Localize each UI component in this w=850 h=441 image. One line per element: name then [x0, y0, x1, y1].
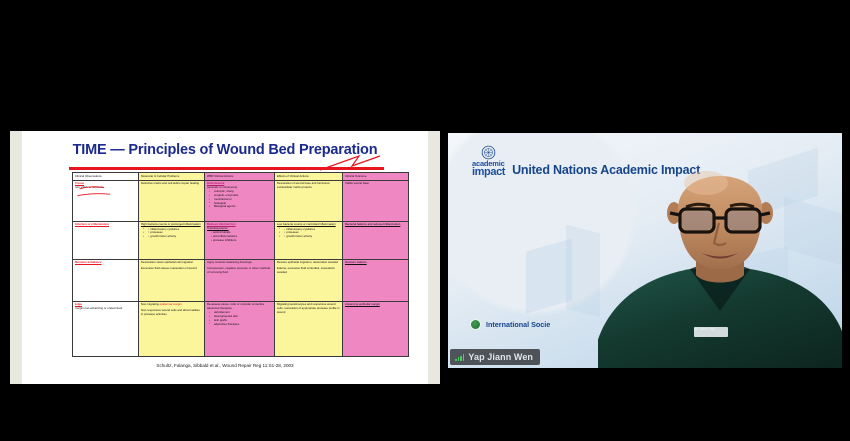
slide-citation: Schultz, Falanga, Sibbald et al., Wound …	[22, 363, 428, 368]
red-underline-annotation	[79, 185, 105, 190]
cell-observation-i: Infection or inflammation	[73, 221, 139, 259]
action-head: Apply moisture balancing dressings	[207, 260, 252, 264]
shared-screen-panel[interactable]: TIME — Principles of Wound Bed Preparati…	[10, 131, 440, 384]
effect-text: Low bacteria counts or controlled inflam…	[277, 222, 336, 226]
effect-text: Edema, excessive fluid controlled, macer…	[277, 266, 335, 274]
cell-problems-e: Non-migrating epidermal margin Non-respo…	[139, 301, 205, 356]
un-emblem-group: academic impact	[472, 145, 505, 178]
lens-right	[728, 211, 758, 230]
problem-emphasis: epidermal margin	[160, 302, 182, 306]
outcome-text: Moisture balance	[345, 260, 367, 264]
background-shape	[566, 225, 600, 317]
observation-detail-e: margin non-advancing or undermined	[75, 306, 122, 310]
action-item-list: debridement bioengineered skin skin graf…	[211, 311, 272, 326]
participant-figure	[598, 151, 842, 368]
problem-text: Non-migrating epidermal margin	[141, 302, 182, 306]
signal-strength-icon	[455, 353, 464, 361]
slide-content: TIME — Principles of Wound Bed Preparati…	[22, 131, 428, 384]
table-row: Moisture imbalance Desiccation slows epi…	[73, 259, 409, 301]
problem-text: Defective matrix and cell debris impair …	[141, 181, 199, 185]
society-label: International Socie	[486, 320, 550, 329]
meeting-screen: TIME — Principles of Wound Bed Preparati…	[0, 0, 850, 441]
cell-effects-t: Restoration of wound base and functional…	[275, 180, 343, 221]
cell-effects-m: Restore epithelial migration, desiccatio…	[275, 259, 343, 301]
society-badge-icon	[470, 319, 481, 330]
effect-text: Restoration of wound base and functional…	[277, 181, 329, 189]
effect-item-list: ↓ inflammatory cytokines ↓ proteases ↑ g…	[281, 228, 340, 239]
table-header-row: Clinical Observations Molecular & Cellul…	[73, 173, 409, 181]
society-logo-group: International Socie	[470, 319, 550, 330]
cell-problems-m: Desiccation slows epithelial cell migrat…	[139, 259, 205, 301]
header-effects-of-clinical-actions: Effects of Clinical Actions	[275, 173, 343, 181]
cell-actions-i: Remove infected foci Topical/systemic: a…	[205, 221, 275, 259]
action-head: Re-assess cause, refer or consider corre…	[207, 302, 264, 310]
problem-item-list: ↑ inflammatory cytokines ↑ proteases ↓ g…	[145, 228, 202, 239]
cell-outcome-t: Viable wound base	[343, 180, 409, 221]
problem-text: High bacteria counts or prolonged inflam…	[141, 222, 201, 226]
problem-text: Desiccation slows epithelial cell migrat…	[141, 260, 193, 264]
cell-outcome-m: Moisture balance	[343, 259, 409, 301]
header-clinical-observations: Clinical Observations	[73, 173, 139, 181]
action-item-list: antimicrobials anti-inflammatories prote…	[213, 231, 272, 242]
list-item: ↓ growth factor activity	[145, 235, 202, 239]
lens-left	[682, 211, 712, 230]
list-item: adjunctive therapies	[211, 323, 272, 327]
cell-observation-m: Moisture imbalance	[73, 259, 139, 301]
action-item-list: Autolytic, sharp, surgical, enzymatic, m…	[211, 190, 272, 209]
outcome-text: Viable wound base	[345, 181, 369, 185]
academic-impact-wordmark: academic impact	[472, 160, 505, 178]
title-underline-rule	[69, 167, 384, 170]
action-sub: Compression, negative pressure or other …	[207, 266, 270, 274]
list-item: protease inhibitors	[213, 239, 272, 243]
cell-observation-e: Edge margin non-advancing or undermined	[73, 301, 139, 356]
participant-name: Yap Jiann Wen	[468, 352, 533, 362]
cell-problems-i: High bacteria counts or prolonged inflam…	[139, 221, 205, 259]
list-item: ↑ growth factor activity	[281, 235, 340, 239]
observation-label-i: Infection or inflammation	[75, 222, 109, 226]
participant-video-tile[interactable]: academic impact United Nations Academic …	[448, 133, 842, 368]
effect-text: Migrating keratinocytes and responsive w…	[277, 302, 339, 314]
cell-effects-e: Migrating keratinocytes and responsive w…	[275, 301, 343, 356]
cell-actions-t: Debridement (episodic or continuous) Aut…	[205, 180, 275, 221]
table-row: Tissue non-viable or deficient Defective…	[73, 180, 409, 221]
problem-text: Non-responsive wound cells and abnormali…	[141, 308, 200, 316]
observation-label-m: Moisture imbalance	[75, 260, 102, 264]
cell-actions-e: Re-assess cause, refer or consider corre…	[205, 301, 275, 356]
problem-text: Excessive fluid causes maceration of wou…	[141, 266, 197, 270]
badge-text: Dr. Jiann Yap	[694, 327, 715, 331]
list-item: Biological agents	[211, 205, 272, 209]
participant-name-tag[interactable]: Yap Jiann Wen	[450, 349, 540, 365]
time-framework-table: Clinical Observations Molecular & Cellul…	[72, 172, 409, 357]
cell-actions-m: Apply moisture balancing dressings Compr…	[205, 259, 275, 301]
outcome-text: Bacterial balance and reduced inflammati…	[345, 222, 400, 226]
un-emblem-icon	[481, 145, 496, 160]
wordmark-line-2: impact	[472, 166, 505, 178]
scalp-highlight	[684, 171, 728, 195]
header-wbp-clinical-actions: WBP Clinical Actions	[205, 173, 275, 181]
red-underline-annotation	[77, 192, 111, 197]
header-clinical-outcome: Clinical Outcome	[343, 173, 409, 181]
table-row: Edge margin non-advancing or undermined …	[73, 301, 409, 356]
slide-title: TIME — Principles of Wound Bed Preparati…	[22, 131, 428, 158]
cell-outcome-e: Advancing epithelial margin	[343, 301, 409, 356]
table-row: Infection or inflammation High bacteria …	[73, 221, 409, 259]
header-molecular-cellular-problems: Molecular & Cellular Problems	[139, 173, 205, 181]
cell-effects-i: Low bacteria counts or controlled inflam…	[275, 221, 343, 259]
outcome-text: Advancing epithelial margin	[345, 302, 380, 306]
effect-text: Restore epithelial migration, desiccatio…	[277, 260, 338, 264]
cell-problems-t: Defective matrix and cell debris impair …	[139, 180, 205, 221]
cell-outcome-i: Bacterial balance and reduced inflammati…	[343, 221, 409, 259]
